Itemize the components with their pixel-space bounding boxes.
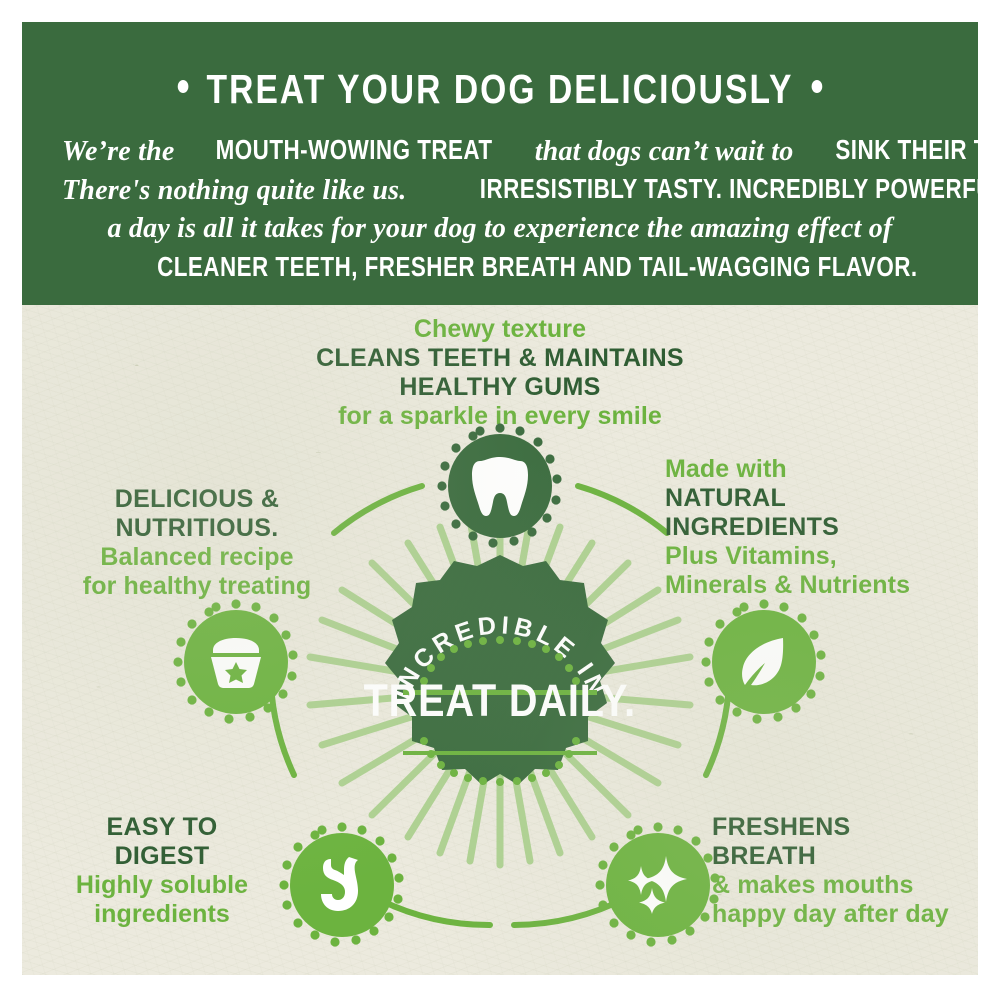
header-body: We’re theMOUTH-WOWING TREATthat dogs can… xyxy=(62,130,938,286)
seal-main-wrap: TREAT DAILY. xyxy=(355,553,645,825)
header-line: a day is all it takes for your dog to ex… xyxy=(62,208,938,247)
header-line: There's nothing quite like us.IRRESISTIB… xyxy=(62,169,938,208)
benefit-text-bottom-right: FRESHENS BREATH & makes mouths happy day… xyxy=(712,813,978,929)
page-title-text: TREAT YOUR DOG DELICIOUSLY xyxy=(207,66,794,112)
header-line: We’re theMOUTH-WOWING TREATthat dogs can… xyxy=(62,130,938,169)
sparkle-glyph xyxy=(626,854,690,916)
benefit-text-left: DELICIOUS & NUTRITIOUS. Balanced recipe … xyxy=(52,485,342,601)
benefit-icon-sparkle[interactable] xyxy=(606,833,710,937)
benefit-icon-leaf[interactable] xyxy=(712,610,816,714)
benefit-text-bottom-left: EASY TO DIGEST Highly soluble ingredient… xyxy=(32,813,292,929)
benefit-icon-dog-bowl[interactable] xyxy=(184,610,288,714)
benefit-text-right: Made with NATURAL INGREDIENTS Plus Vitam… xyxy=(665,455,975,600)
benefit-icon-tooth[interactable] xyxy=(448,434,552,538)
stomach-glyph xyxy=(311,856,373,914)
leaf-glyph xyxy=(735,633,793,691)
dog-bowl-glyph xyxy=(204,634,268,690)
bullet-dot-icon xyxy=(811,80,822,93)
bullet-dot-icon xyxy=(178,80,189,93)
paper-panel: Chewy texture CLEANS TEETH & MAINTAINS H… xyxy=(22,305,978,975)
page-title: TREAT YOUR DOG DELICIOUSLY xyxy=(108,66,892,113)
center-seal: INCREDIBLE IN xyxy=(355,553,645,825)
benefit-icon-stomach[interactable] xyxy=(290,833,394,937)
infographic-poster: TREAT YOUR DOG DELICIOUSLY We’re theMOUT… xyxy=(0,0,1000,1000)
seal-main-text: TREAT DAILY. xyxy=(364,675,636,727)
header-band: TREAT YOUR DOG DELICIOUSLY We’re theMOUT… xyxy=(22,22,978,305)
benefit-text-top: Chewy texture CLEANS TEETH & MAINTAINS H… xyxy=(197,315,803,431)
header-line: CLEANER TEETH, FRESHER BREATH AND TAIL-W… xyxy=(62,247,938,286)
tooth-glyph xyxy=(470,454,530,518)
